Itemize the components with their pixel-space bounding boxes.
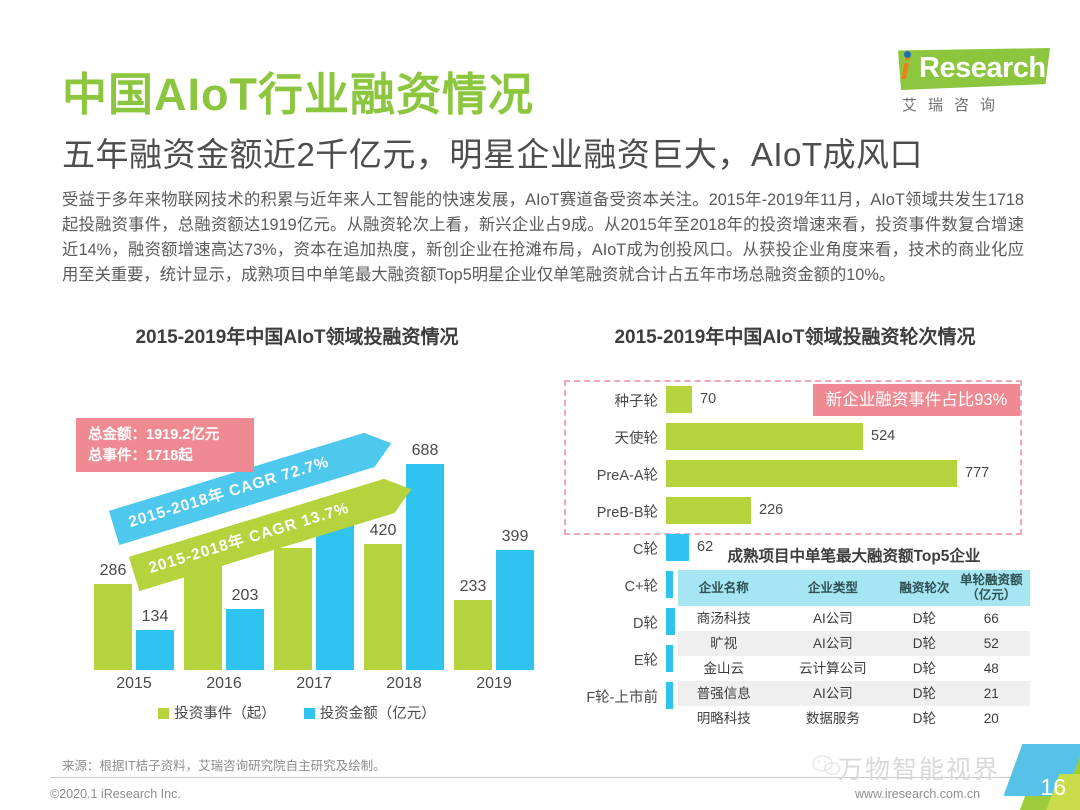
new-enterprise-percent-badge: 新企业融资事件占比93% <box>813 384 1020 416</box>
iresearch-logo: i Research 艾瑞咨询 <box>884 48 1064 123</box>
round-label: E轮 <box>560 649 658 670</box>
page-number: 16 <box>1040 774 1066 801</box>
table-header-cell: 企业类型 <box>770 570 897 606</box>
bar-amount <box>496 550 534 670</box>
round-bar <box>666 497 751 524</box>
source-note: 来源：根据IT桔子资料，艾瑞咨询研究院自主研究及绘制。 <box>62 755 386 774</box>
logo-chinese-name: 艾瑞咨询 <box>902 94 1006 115</box>
bar-value-label: 233 <box>448 578 498 596</box>
table-header-cell: 单轮融资额（亿元） <box>953 570 1030 606</box>
table-cell-name: 明略科技 <box>678 706 770 731</box>
bar-group: 233399 <box>452 370 536 670</box>
legend-swatch <box>304 708 315 719</box>
table-cell-round: D轮 <box>896 681 952 706</box>
x-axis-label: 2019 <box>452 675 536 693</box>
bar-value-label: 203 <box>220 587 270 605</box>
table-cell-type: 云计算公司 <box>770 656 897 681</box>
copyright-text: ©2020.1 iResearch Inc. <box>50 787 181 801</box>
bar-events <box>94 584 132 670</box>
table-cell-type: AI公司 <box>770 631 897 656</box>
table-cell-amount: 20 <box>953 706 1030 731</box>
page-subtitle: 五年融资金额近2千亿元，明星企业融资巨大，AIoT成风口 <box>62 128 923 176</box>
table-cell-round: D轮 <box>896 706 952 731</box>
round-label: C+轮 <box>560 575 658 596</box>
table-cell-type: 数据服务 <box>770 706 897 731</box>
table-title: 成熟项目中单笔最大融资额Top5企业 <box>678 544 1030 566</box>
round-bar <box>666 608 675 635</box>
right-chart-container: 2015-2019年中国AIoT领域投融资轮次情况 新企业融资事件占比93% 种… <box>560 322 1030 742</box>
table-row: 商汤科技AI公司D轮66 <box>678 606 1030 631</box>
round-label: C轮 <box>560 538 658 559</box>
table-cell-name: 普强信息 <box>678 681 770 706</box>
round-row: 天使轮524 <box>560 419 1030 456</box>
body-paragraph: 受益于多年来物联网技术的积累与近年来人工智能的快速发展，AIoT赛道备受资本关注… <box>62 188 1024 288</box>
legend-swatch <box>158 708 169 719</box>
left-chart-container: 2015-2019年中国AIoT领域投融资情况 总金额：1919.2亿元 总事件… <box>62 322 532 742</box>
bar-value-label: 134 <box>130 608 180 626</box>
round-bar <box>666 682 673 709</box>
x-axis: 20152016201720182019 <box>62 670 532 696</box>
table-row: 旷视AI公司D轮52 <box>678 631 1030 656</box>
table-cell-name: 金山云 <box>678 656 770 681</box>
table-cell-round: D轮 <box>896 606 952 631</box>
table-cell-amount: 48 <box>953 656 1030 681</box>
table-cell-amount: 21 <box>953 681 1030 706</box>
round-value-label: 226 <box>759 502 783 518</box>
table-row: 明略科技数据服务D轮20 <box>678 706 1030 731</box>
legend-item: 投资金额（亿元） <box>304 702 436 723</box>
round-label: D轮 <box>560 612 658 633</box>
table-row: 金山云云计算公司D轮48 <box>678 656 1030 681</box>
table-row: 普强信息AI公司D轮21 <box>678 681 1030 706</box>
round-bar <box>666 645 673 672</box>
table-cell-name: 商汤科技 <box>678 606 770 631</box>
round-bar <box>666 423 863 450</box>
corner-decoration <box>988 744 1080 810</box>
table-cell-type: AI公司 <box>770 606 897 631</box>
bar-events <box>364 544 402 670</box>
x-axis-label: 2015 <box>92 675 176 693</box>
table-cell-name: 旷视 <box>678 631 770 656</box>
legend-label: 投资金额（亿元） <box>320 706 436 722</box>
wechat-icon <box>812 754 840 778</box>
table-header-cell: 融资轮次 <box>896 570 952 606</box>
round-value-label: 524 <box>871 428 895 444</box>
round-row: PreB-B轮226 <box>560 493 1030 530</box>
logo-dot-icon <box>904 51 911 58</box>
watermark-text: 万物智能视界 <box>838 750 1000 786</box>
round-label: PreA-A轮 <box>560 464 658 485</box>
table-cell-amount: 66 <box>953 606 1030 631</box>
table-cell-type: AI公司 <box>770 681 897 706</box>
round-value-label: 777 <box>965 465 989 481</box>
bar-group: 420688 <box>362 370 446 670</box>
top5-table: 企业名称企业类型融资轮次单轮融资额（亿元） 商汤科技AI公司D轮66旷视AI公司… <box>678 570 1030 731</box>
table-cell-amount: 52 <box>953 631 1030 656</box>
round-bar <box>666 460 957 487</box>
round-value-label: 70 <box>700 391 716 407</box>
round-label: F轮-上市前 <box>560 686 658 707</box>
bar-value-label: 420 <box>358 522 408 540</box>
left-chart-plot: 总金额：1919.2亿元 总事件：1718起 2015-2018年 CAGR 7… <box>62 370 532 710</box>
round-row: PreA-A轮777 <box>560 456 1030 493</box>
table-header-cell: 企业名称 <box>678 570 770 606</box>
summary-amount: 总金额：1919.2亿元 <box>88 425 254 446</box>
table-cell-round: D轮 <box>896 631 952 656</box>
round-label: 天使轮 <box>560 427 658 448</box>
table-cell-round: D轮 <box>896 656 952 681</box>
x-axis-label: 2018 <box>362 675 446 693</box>
bar-events <box>454 600 492 670</box>
slide-page: 中国AIoT行业融资情况 五年融资金额近2千亿元，明星企业融资巨大，AIoT成风… <box>0 0 1080 810</box>
bar-amount <box>406 464 444 670</box>
bar-value-label: 399 <box>490 528 540 546</box>
summary-events: 总事件：1718起 <box>88 446 254 467</box>
bar-amount <box>226 609 264 670</box>
bar-events <box>274 548 312 670</box>
x-axis-label: 2017 <box>272 675 356 693</box>
bar-amount <box>316 521 354 670</box>
left-chart-title: 2015-2019年中国AIoT领域投融资情况 <box>62 322 532 349</box>
logo-wordmark: Research <box>919 51 1046 85</box>
legend-item: 投资事件（起） <box>158 702 276 723</box>
bar-amount <box>136 630 174 670</box>
x-axis-label: 2016 <box>182 675 266 693</box>
round-label: 种子轮 <box>560 390 658 411</box>
bar-value-label: 286 <box>88 562 138 580</box>
round-bar <box>666 386 692 413</box>
round-bar <box>666 571 673 598</box>
round-label: PreB-B轮 <box>560 501 658 522</box>
summary-callout: 总金额：1919.2亿元 总事件：1718起 <box>76 418 254 472</box>
right-chart-title: 2015-2019年中国AIoT领域投融资轮次情况 <box>560 322 1030 349</box>
table-body: 商汤科技AI公司D轮66旷视AI公司D轮52金山云云计算公司D轮48普强信息AI… <box>678 606 1030 731</box>
bar-value-label: 688 <box>400 442 450 460</box>
left-chart-legend: 投资事件（起）投资金额（亿元） <box>62 702 532 723</box>
page-title: 中国AIoT行业融资情况 <box>62 58 534 123</box>
legend-label: 投资事件（起） <box>174 706 276 722</box>
table-header-row: 企业名称企业类型融资轮次单轮融资额（亿元） <box>678 570 1030 606</box>
website-url: www.iresearch.com.cn <box>855 787 980 801</box>
